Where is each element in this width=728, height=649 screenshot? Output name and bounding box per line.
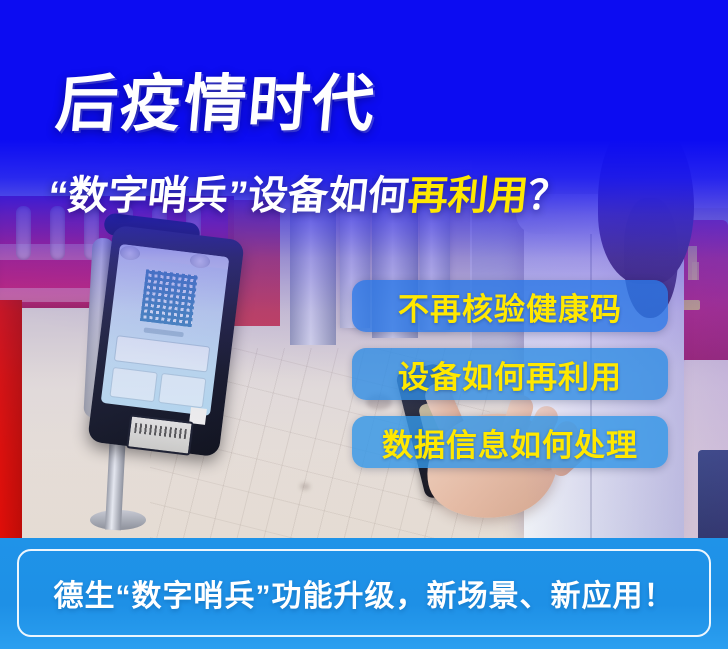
topic-pill-health-code[interactable]: 不再核验健康码 [352, 280, 668, 332]
topic-pill-data-handling[interactable]: 数据信息如何处理 [352, 416, 668, 468]
topic-pill-label: 数据信息如何处理 [382, 420, 638, 465]
subtitle-highlight: 再利用 [406, 174, 531, 218]
subtitle-lead: “数字哨兵”设备如何 [46, 174, 411, 218]
topic-pill-device-reuse[interactable]: 设备如何再利用 [352, 348, 668, 400]
subtitle-question-mark: ？ [526, 174, 571, 218]
bottom-banner-frame: 德生“数字哨兵”功能升级，新场景、新应用！ [17, 549, 711, 637]
topic-pill-label: 设备如何再利用 [398, 352, 622, 397]
bottom-banner: 德生“数字哨兵”功能升级，新场景、新应用！ [0, 538, 728, 649]
page-title: 后疫情时代 [53, 74, 378, 136]
bottom-banner-label: 德生“数字哨兵”功能升级，新场景、新应用！ [54, 571, 675, 615]
page-subtitle: “数字哨兵”设备如何再利用？ [46, 176, 570, 216]
poster-root: 后疫情时代 “数字哨兵”设备如何再利用？ 不再核验健康码 设备如何再利用 数据信… [0, 0, 728, 649]
topic-pill-list: 不再核验健康码 设备如何再利用 数据信息如何处理 [352, 280, 668, 484]
topic-pill-label: 不再核验健康码 [398, 284, 622, 329]
